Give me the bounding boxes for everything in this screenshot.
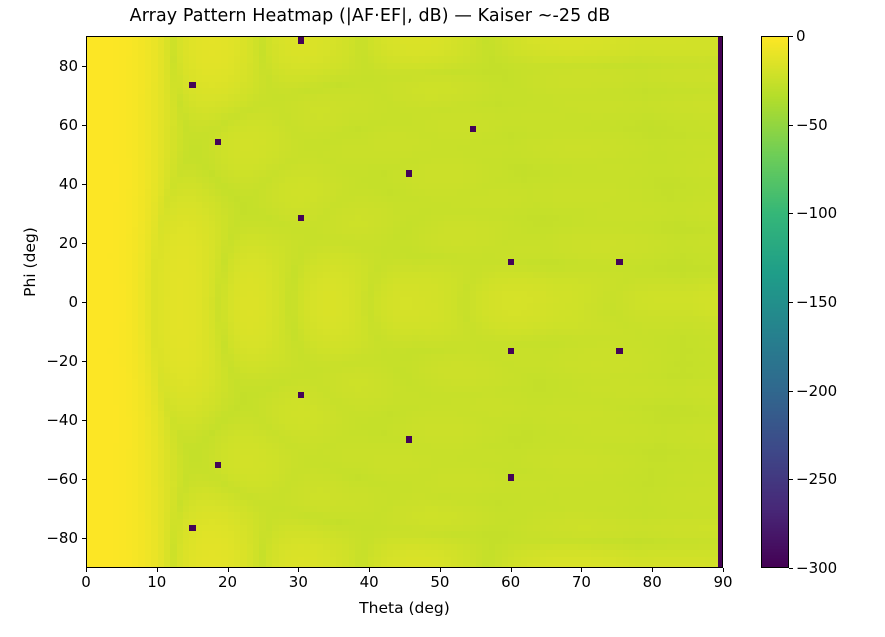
y-tick-label: −80 — [20, 529, 78, 547]
x-axis-label: Theta (deg) — [86, 599, 723, 617]
colorbar-tick-label: −150 — [796, 293, 837, 311]
x-tick-label: 60 — [501, 573, 520, 591]
x-tick-label: 50 — [430, 573, 449, 591]
x-tick — [369, 568, 370, 572]
colorbar-tick-label: −250 — [796, 470, 837, 488]
chart-title: Array Pattern Heatmap (|AF·EF|, dB) — Ka… — [0, 6, 740, 26]
x-tick-label: 10 — [147, 573, 166, 591]
x-tick — [228, 568, 229, 572]
x-tick — [723, 568, 724, 572]
y-tick — [82, 420, 86, 421]
y-tick-label: −40 — [20, 411, 78, 429]
x-tick-label: 70 — [572, 573, 591, 591]
colorbar-tick — [789, 125, 793, 126]
x-tick-label: 40 — [360, 573, 379, 591]
colorbar-tick-label: 0 — [796, 27, 806, 45]
colorbar-tick-label: −100 — [796, 204, 837, 222]
heatmap-canvas — [87, 37, 723, 568]
y-tick — [82, 361, 86, 362]
y-axis-label: Phi (deg) — [21, 162, 39, 362]
colorbar-tick-label: −200 — [796, 382, 837, 400]
y-tick — [82, 66, 86, 67]
colorbar-tick — [789, 36, 793, 37]
x-tick — [440, 568, 441, 572]
y-tick — [82, 125, 86, 126]
x-tick — [581, 568, 582, 572]
colorbar-tick — [789, 568, 793, 569]
y-tick — [82, 302, 86, 303]
colorbar-tick — [789, 391, 793, 392]
y-tick — [82, 243, 86, 244]
x-tick — [157, 568, 158, 572]
heatmap-axes — [86, 36, 723, 568]
x-tick-label: 0 — [81, 573, 91, 591]
colorbar-tick-label: −300 — [796, 559, 837, 577]
x-tick — [298, 568, 299, 572]
y-tick — [82, 538, 86, 539]
x-tick — [511, 568, 512, 572]
x-tick-label: 20 — [218, 573, 237, 591]
y-tick-label: 80 — [20, 57, 78, 75]
colorbar — [761, 36, 789, 568]
colorbar-tick — [789, 479, 793, 480]
colorbar-tick — [789, 302, 793, 303]
x-tick-label: 80 — [643, 573, 662, 591]
x-tick — [652, 568, 653, 572]
y-tick-label: 60 — [20, 116, 78, 134]
y-tick-label: −60 — [20, 470, 78, 488]
x-tick-label: 30 — [289, 573, 308, 591]
colorbar-canvas — [762, 37, 789, 568]
x-tick — [86, 568, 87, 572]
x-tick-label: 90 — [713, 573, 732, 591]
colorbar-tick — [789, 213, 793, 214]
y-tick — [82, 184, 86, 185]
figure: Array Pattern Heatmap (|AF·EF|, dB) — Ka… — [0, 0, 885, 637]
y-tick — [82, 479, 86, 480]
colorbar-tick-label: −50 — [796, 116, 828, 134]
